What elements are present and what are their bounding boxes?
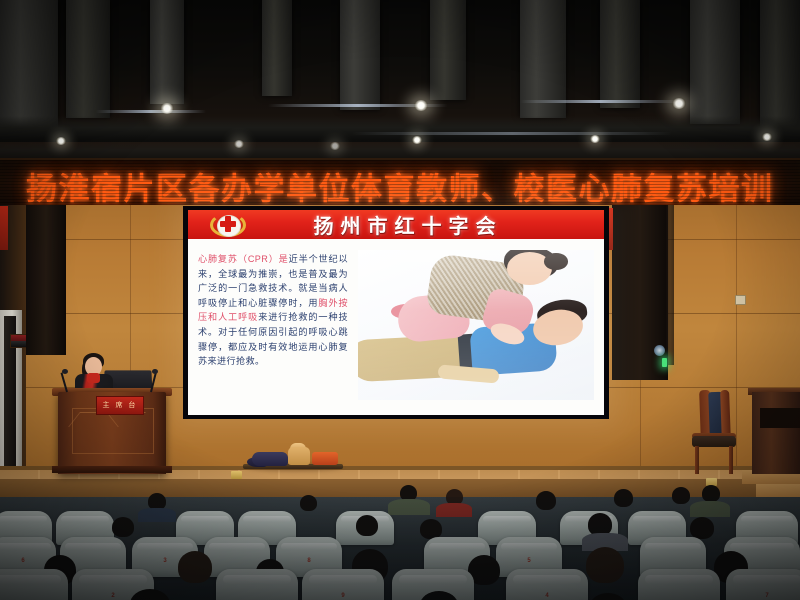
ceiling-downlight bbox=[414, 100, 428, 111]
stage-step-right-lower bbox=[756, 484, 800, 498]
curtain-right-outer bbox=[666, 205, 674, 365]
attendee-shoulders bbox=[690, 501, 730, 517]
seat-number: 8 bbox=[307, 558, 310, 564]
seat-number: 4 bbox=[545, 593, 548, 599]
podium-sign: 主 席 台 bbox=[96, 396, 144, 415]
seat-number: 9 bbox=[341, 593, 344, 599]
attendee-head bbox=[356, 515, 378, 536]
auditorium-seat[interactable] bbox=[0, 569, 68, 600]
ceiling-downlight bbox=[160, 103, 174, 114]
red-cross-wreath-emblem-icon bbox=[210, 212, 246, 238]
auditorium-seat[interactable]: 9 bbox=[302, 569, 384, 600]
attendee-shoulders bbox=[388, 499, 430, 515]
auditorium-scene: 扬淮宿片区各办学单位体育教师、校医心肺复苏培训 扬州市红十字会 bbox=[0, 0, 800, 600]
wall-outlet bbox=[735, 295, 746, 305]
podium-sign-text: 主 席 台 bbox=[97, 397, 143, 414]
attendee-head bbox=[590, 593, 626, 600]
auditorium-seat[interactable] bbox=[216, 569, 298, 600]
cpr-manikin-torso[interactable] bbox=[288, 447, 310, 465]
ceiling-downlight bbox=[672, 98, 686, 109]
side-desk[interactable] bbox=[752, 392, 800, 474]
ceiling-downlight bbox=[590, 135, 600, 143]
audience-area: 6 3 8 5 2 9 4 7 bbox=[0, 497, 800, 600]
attendee-head bbox=[586, 547, 624, 583]
presentation-slide[interactable]: 扬州市红十字会 心肺复苏（CPR）是近半个世纪以来，全球最为推崇，也是普及最为广… bbox=[188, 210, 604, 415]
attendee-head bbox=[690, 517, 714, 539]
ceiling-downlight bbox=[412, 136, 422, 144]
attendee-head bbox=[420, 519, 442, 539]
slide-header: 扬州市红十字会 bbox=[188, 210, 604, 239]
attendee-head bbox=[672, 487, 690, 504]
slide-body: 心肺复苏（CPR）是近半个世纪以来，全球最为推崇，也是普及最为广泛的一门急救技术… bbox=[188, 239, 604, 415]
auditorium-seat[interactable]: 7 bbox=[726, 569, 800, 600]
attendee-head bbox=[112, 517, 134, 537]
ceiling-downlight bbox=[56, 137, 66, 145]
seat-number: 5 bbox=[527, 558, 530, 564]
ceiling-downlight bbox=[234, 140, 244, 148]
curtain-left bbox=[26, 205, 66, 355]
seat-number: 6 bbox=[21, 558, 24, 564]
attendee-shoulders bbox=[436, 503, 472, 517]
attendee-shoulders bbox=[138, 508, 176, 522]
attendee-head bbox=[300, 495, 317, 511]
podium-base bbox=[52, 466, 172, 473]
slide-text-lead: 心肺复苏（CPR）是 bbox=[198, 254, 289, 264]
orange-equipment-case[interactable] bbox=[312, 452, 338, 465]
attendee-head bbox=[178, 551, 212, 583]
ceiling bbox=[0, 0, 800, 160]
cpr-demonstration-photo bbox=[358, 250, 594, 400]
ceiling-downlight bbox=[762, 133, 772, 141]
speaker-indicator-dot bbox=[654, 345, 665, 356]
auditorium-seat[interactable]: 4 bbox=[506, 569, 588, 600]
navy-equipment-case[interactable] bbox=[252, 452, 288, 466]
auditorium-seat[interactable] bbox=[638, 569, 720, 600]
microphone-left-head bbox=[62, 369, 68, 374]
microphone-right-head bbox=[152, 369, 158, 374]
seat-number: 3 bbox=[163, 558, 166, 564]
attendee-head bbox=[702, 485, 720, 502]
slide-text-block: 心肺复苏（CPR）是近半个世纪以来，全球最为推崇，也是普及最为广泛的一门急救技术… bbox=[198, 248, 348, 415]
equipment-green-led bbox=[662, 358, 667, 367]
wall-red-accent-left bbox=[0, 206, 8, 250]
presenter-scarf bbox=[87, 373, 100, 383]
seat-number: 2 bbox=[111, 593, 114, 599]
seat-number: 7 bbox=[765, 593, 768, 599]
attendee-head bbox=[614, 489, 633, 507]
side-chair-leg bbox=[695, 446, 699, 474]
floor-box-left[interactable] bbox=[231, 471, 242, 479]
slide-title: 扬州市红十字会 bbox=[246, 210, 604, 239]
led-banner-text: 扬淮宿片区各办学单位体育教师、校医心肺复苏培训 bbox=[26, 164, 774, 209]
attendee-head bbox=[536, 491, 556, 510]
side-chair-leg bbox=[729, 446, 733, 474]
ceiling-downlight bbox=[330, 142, 340, 150]
side-desk-recess bbox=[760, 408, 800, 428]
